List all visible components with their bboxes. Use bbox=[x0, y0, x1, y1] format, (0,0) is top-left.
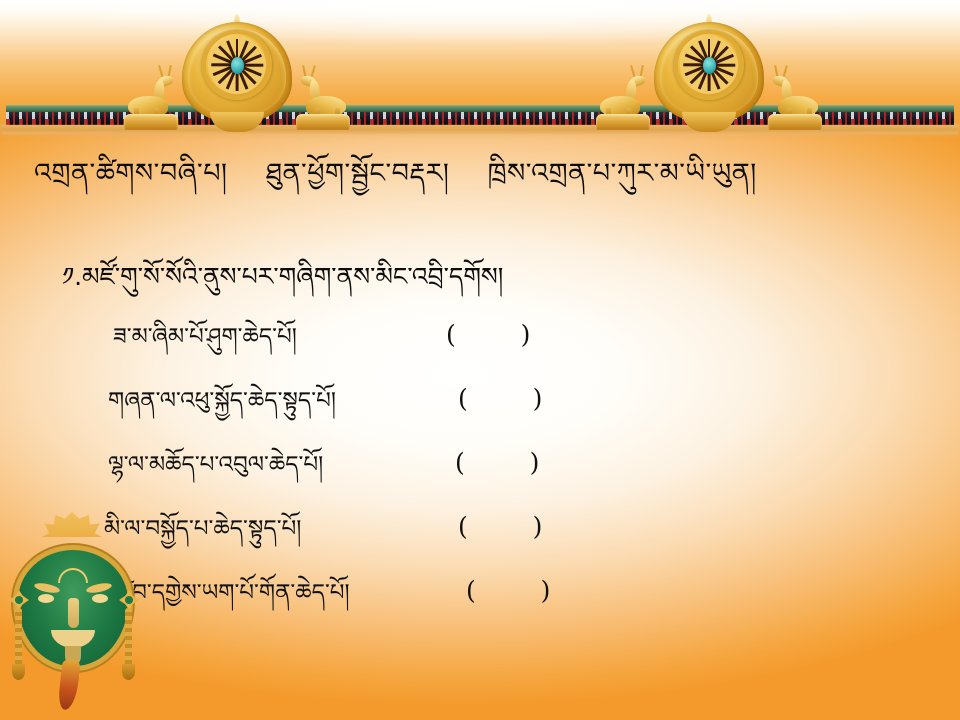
deer-icon bbox=[592, 64, 654, 130]
paren-right: ) bbox=[541, 576, 552, 605]
option-text: ལྷ་ལ་མཆོད་པ་འབུལ་ཆེད་པོ། bbox=[108, 448, 323, 483]
tassel-tip bbox=[122, 664, 135, 680]
answer-blank[interactable]: ( ) bbox=[466, 576, 551, 605]
mask-third-eye-icon bbox=[58, 568, 88, 583]
answer-options-list: ཟ་མ་ཞིམ་པོ་ཤུག་ཆེད་པོ། ( ) གཞན་ལ་འཕུ་སྐྱ… bbox=[0, 318, 960, 638]
list-item: གཞན་ལ་འཕུ་སྐྱོད་ཆེད་སྟུད་པོ། ( ) bbox=[0, 382, 960, 446]
tassel-cord bbox=[15, 608, 22, 668]
paren-right: ) bbox=[530, 448, 541, 477]
list-item: མཛུབ་དགྱེས་ཡག་པོ་གོན་ཆེད་པོ། ( ) bbox=[0, 574, 960, 638]
wheel-base bbox=[682, 112, 736, 132]
tassel-tip bbox=[12, 664, 25, 680]
paren-right: ) bbox=[533, 384, 544, 413]
title-segment-1: འགྲན་ཚིགས་བཞི་པ། bbox=[34, 154, 228, 193]
answer-blank[interactable]: ( ) bbox=[458, 384, 543, 413]
answer-blank[interactable]: ( ) bbox=[446, 320, 531, 349]
question-prompt: ༡.མཛོ་གུ་སོ་སོའི་ནུས་པར་གཞིག་ནས་མིང་འབྲི… bbox=[62, 258, 503, 296]
mask-eye bbox=[92, 594, 108, 603]
deer-pedestal bbox=[596, 114, 650, 130]
deer-icon bbox=[120, 64, 182, 130]
wheel-disc bbox=[674, 30, 744, 100]
dharma-wheel-icon bbox=[648, 18, 770, 130]
deer-icon bbox=[764, 64, 826, 130]
answer-blank[interactable]: ( ) bbox=[458, 512, 543, 541]
deer-pedestal bbox=[296, 114, 350, 130]
option-text: ཟ་མ་ཞིམ་པོ་ཤུག་ཆེད་པོ། bbox=[113, 320, 297, 355]
deer-pedestal bbox=[768, 114, 822, 130]
tassel-cord bbox=[125, 608, 132, 668]
presentation-slide: འགྲན་ཚིགས་བཞི་པ། ཐུན་ཕྱོག་སྦྱོང་བརྡར། ཁྲ… bbox=[0, 0, 960, 720]
tassel-knot-icon bbox=[119, 590, 139, 610]
wheel-hub-turquoise bbox=[703, 57, 716, 74]
wheel-hub-turquoise bbox=[231, 57, 244, 74]
paren-left: ( bbox=[455, 448, 466, 477]
mask-brow bbox=[85, 581, 112, 594]
mask-tassel-left bbox=[8, 590, 30, 682]
header-banner bbox=[0, 0, 960, 148]
title-segment-3: ཁྲིས་འགྲན་པ་ཀུར་མ་ཡི་ཡུན། bbox=[488, 154, 757, 193]
mask-tongue-icon bbox=[57, 659, 80, 711]
wheel-disc bbox=[202, 30, 272, 100]
mask-brow bbox=[33, 581, 60, 594]
list-item: ཟ་མ་ཞིམ་པོ་ཤུག་ཆེད་པོ། ( ) bbox=[0, 318, 960, 382]
paren-left: ( bbox=[458, 384, 469, 413]
tassel-knot-icon bbox=[9, 590, 29, 610]
answer-blank[interactable]: ( ) bbox=[455, 448, 540, 477]
paren-right: ) bbox=[521, 320, 532, 349]
title-segment-2: ཐུན་ཕྱོག་སྦྱོང་བརྡར། bbox=[266, 154, 450, 193]
dharma-wheel-icon bbox=[176, 18, 298, 130]
mask-tassel-right bbox=[118, 590, 140, 682]
tibetan-mask-emblem-icon bbox=[8, 512, 140, 712]
paren-right: ) bbox=[533, 512, 544, 541]
paren-left: ( bbox=[446, 320, 457, 349]
slide-title: འགྲན་ཚིགས་བཞི་པ། ཐུན་ཕྱོག་སྦྱོང་བརྡར། ཁྲ… bbox=[34, 154, 757, 193]
deer-pedestal bbox=[124, 114, 178, 130]
paren-left: ( bbox=[466, 576, 477, 605]
option-text: གཞན་ལ་འཕུ་སྐྱོད་ཆེད་སྟུད་པོ། bbox=[108, 384, 336, 419]
list-item: ལྷ་ལ་མཆོད་པ་འབུལ་ཆེད་པོ། ( ) bbox=[0, 446, 960, 510]
mask-eye bbox=[38, 594, 54, 603]
deer-icon bbox=[292, 64, 354, 130]
mask-nose bbox=[68, 598, 79, 628]
paren-left: ( bbox=[458, 512, 469, 541]
wheel-base bbox=[210, 112, 264, 132]
list-item: མི་ལ་བསྐྱོད་པ་ཆེད་སྟུད་པོ། ( ) bbox=[0, 510, 960, 574]
mask-face bbox=[18, 550, 128, 666]
